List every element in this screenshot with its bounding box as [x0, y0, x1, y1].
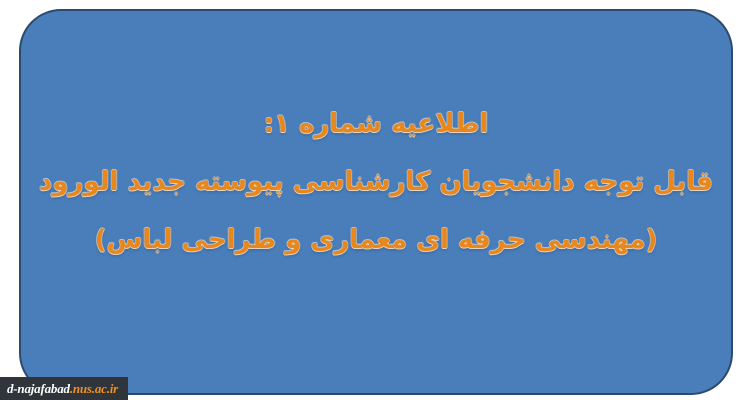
announcement-majors-line: (مهندسی حرفه ای معماری و طراحی لباس) — [21, 219, 731, 261]
watermark-site-name: d-najafabad — [7, 381, 70, 396]
announcement-title-line: اطلاعیه شماره ۱: — [21, 103, 731, 145]
site-watermark: d-najafabad.nus.ac.ir — [0, 377, 128, 400]
watermark-url: d-najafabad.nus.ac.ir — [7, 381, 118, 397]
watermark-site-domain: .nus.ac.ir — [70, 381, 118, 396]
announcement-card: اطلاعیه شماره ۱: قابل توجه دانشجویان کار… — [19, 9, 733, 395]
announcement-audience-line: قابل توجه دانشجویان کارشناسی پیوسته جدید… — [21, 161, 731, 203]
screenshot-stage: اطلاعیه شماره ۱: قابل توجه دانشجویان کار… — [0, 0, 747, 410]
announcement-text-block: اطلاعیه شماره ۱: قابل توجه دانشجویان کار… — [21, 103, 731, 261]
